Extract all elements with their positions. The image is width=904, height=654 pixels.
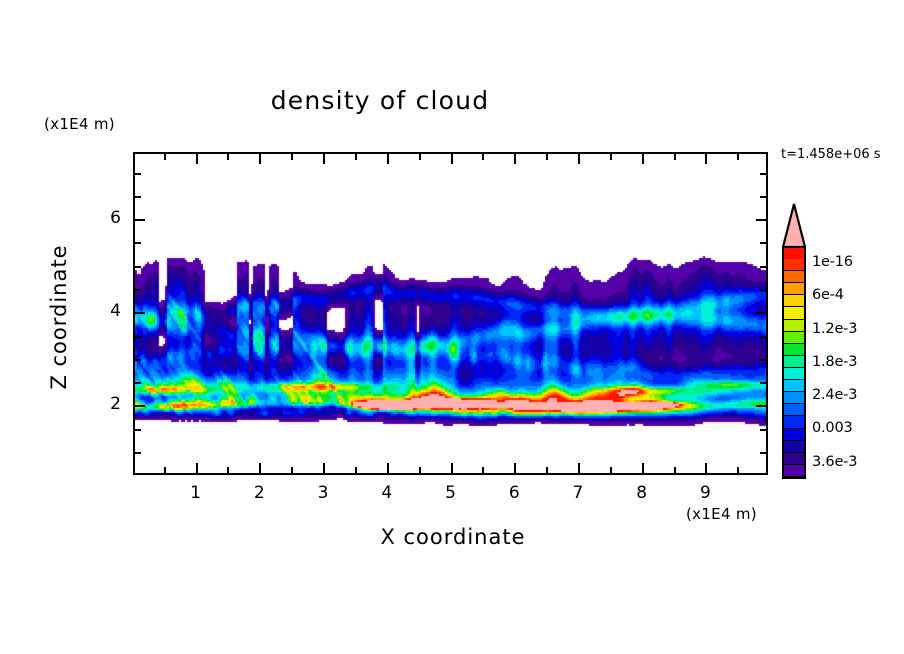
tick-mark xyxy=(135,196,141,198)
tick-mark xyxy=(760,429,766,431)
tick-mark xyxy=(514,463,516,473)
colorbar-swatch xyxy=(784,332,804,344)
tick-mark xyxy=(355,467,357,473)
tick-mark xyxy=(135,405,145,407)
tick-mark xyxy=(135,219,145,221)
page-title: density of cloud xyxy=(0,86,760,115)
tick-mark xyxy=(451,463,453,473)
tick-mark xyxy=(760,173,766,175)
y-axis-title: Z coordinate xyxy=(47,207,71,427)
y-tick-label: 4 xyxy=(81,301,121,321)
tick-mark xyxy=(674,154,676,160)
tick-mark xyxy=(451,154,453,164)
tick-mark xyxy=(760,359,766,361)
tick-mark xyxy=(135,173,141,175)
tick-mark xyxy=(756,312,766,314)
tick-mark xyxy=(578,154,580,164)
tick-mark xyxy=(610,154,612,160)
tick-mark xyxy=(514,154,516,164)
colorbar-swatch xyxy=(784,429,804,441)
x-axis-unit-label: (x1E4 m) xyxy=(686,505,757,523)
colorbar-label: 6e-4 xyxy=(812,287,844,303)
tick-mark xyxy=(227,467,229,473)
colorbar-swatch xyxy=(784,392,804,404)
colorbar-swatch xyxy=(784,453,804,465)
tick-mark xyxy=(323,463,325,473)
colorbar-label: 1e-16 xyxy=(812,254,853,270)
tick-mark xyxy=(355,154,357,160)
tick-mark xyxy=(760,289,766,291)
colorbar-label: 1.8e-3 xyxy=(812,354,857,370)
tick-mark xyxy=(760,196,766,198)
tick-mark xyxy=(760,452,766,454)
tick-mark xyxy=(705,463,707,473)
tick-mark xyxy=(196,463,198,473)
tick-mark xyxy=(135,242,141,244)
tick-mark xyxy=(756,405,766,407)
colorbar xyxy=(782,246,806,479)
tick-mark xyxy=(259,154,261,164)
tick-mark xyxy=(737,154,739,160)
colorbar-swatch xyxy=(784,404,804,416)
tick-mark xyxy=(674,467,676,473)
x-tick-label: 3 xyxy=(303,483,343,503)
tick-mark xyxy=(546,467,548,473)
x-tick-label: 9 xyxy=(685,483,725,503)
tick-mark xyxy=(737,467,739,473)
y-axis-unit-label: (x1E4 m) xyxy=(44,115,115,133)
plot-area xyxy=(133,152,768,475)
tick-mark xyxy=(760,382,766,384)
colorbar-swatch xyxy=(784,344,804,356)
tick-mark xyxy=(387,154,389,164)
x-tick-label: 2 xyxy=(239,483,279,503)
x-tick-label: 5 xyxy=(431,483,471,503)
tick-mark xyxy=(135,266,141,268)
colorbar-label: 3.6e-3 xyxy=(812,454,857,470)
colorbar-swatch xyxy=(784,259,804,271)
x-tick-label: 4 xyxy=(367,483,407,503)
tick-mark xyxy=(227,154,229,160)
colorbar-arrow-icon xyxy=(782,203,806,248)
tick-mark xyxy=(135,429,141,431)
x-tick-label: 8 xyxy=(622,483,662,503)
tick-mark xyxy=(760,336,766,338)
tick-mark xyxy=(419,154,421,160)
tick-mark xyxy=(482,467,484,473)
tick-mark xyxy=(291,467,293,473)
tick-mark xyxy=(164,154,166,160)
tick-mark xyxy=(164,467,166,473)
colorbar-swatch xyxy=(784,356,804,368)
tick-mark xyxy=(387,463,389,473)
colorbar-swatch xyxy=(784,283,804,295)
tick-mark xyxy=(642,463,644,473)
contour-field xyxy=(135,154,766,473)
colorbar-swatch xyxy=(784,416,804,428)
colorbar-swatch xyxy=(784,320,804,332)
tick-mark xyxy=(323,154,325,164)
tick-mark xyxy=(760,242,766,244)
tick-mark xyxy=(642,154,644,164)
x-tick-label: 7 xyxy=(558,483,598,503)
tick-mark xyxy=(135,336,141,338)
colorbar-swatch xyxy=(784,441,804,453)
colorbar-swatch xyxy=(784,368,804,380)
tick-mark xyxy=(419,467,421,473)
colorbar-label: 2.4e-3 xyxy=(812,387,857,403)
tick-mark xyxy=(760,266,766,268)
colorbar-label: 0.003 xyxy=(812,420,853,436)
colorbar-swatch xyxy=(784,307,804,319)
tick-mark xyxy=(291,154,293,160)
tick-mark xyxy=(610,467,612,473)
tick-mark xyxy=(546,154,548,160)
tick-mark xyxy=(756,219,766,221)
colorbar-swatch xyxy=(784,380,804,392)
colorbar-swatch xyxy=(784,271,804,283)
tick-mark xyxy=(482,154,484,160)
tick-mark xyxy=(135,359,141,361)
tick-mark xyxy=(578,463,580,473)
x-tick-label: 6 xyxy=(494,483,534,503)
figure-canvas: density of cloud (x1E4 m) (x1E4 m) t=1.4… xyxy=(0,0,904,654)
tick-mark xyxy=(705,154,707,164)
y-tick-label: 2 xyxy=(81,394,121,414)
colorbar-swatch xyxy=(784,465,804,477)
tick-mark xyxy=(135,452,141,454)
tick-mark xyxy=(135,382,141,384)
tick-mark xyxy=(259,463,261,473)
colorbar-label: 1.2e-3 xyxy=(812,321,857,337)
x-axis-title: X coordinate xyxy=(253,525,653,549)
tick-mark xyxy=(135,289,141,291)
tick-mark xyxy=(135,312,145,314)
tick-mark xyxy=(196,154,198,164)
colorbar-swatch xyxy=(784,248,804,259)
y-tick-label: 6 xyxy=(81,208,121,228)
x-tick-label: 1 xyxy=(176,483,216,503)
time-annotation: t=1.458e+06 s xyxy=(781,147,881,162)
colorbar-swatch xyxy=(784,295,804,307)
